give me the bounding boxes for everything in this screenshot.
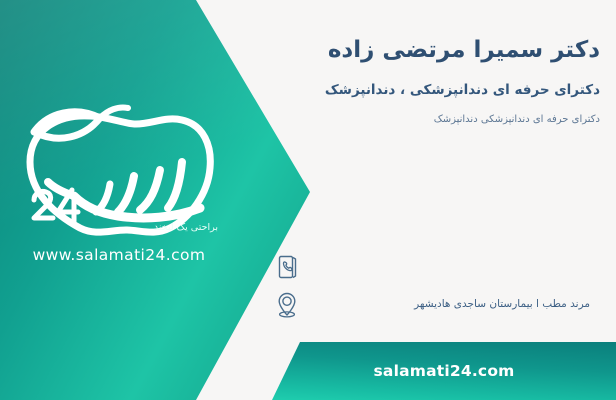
- logo-url: www.salamati24.com: [14, 246, 224, 264]
- business-card: براحتی یک لبخند www.salamati24.com دکتر …: [0, 0, 616, 400]
- brand-logo: براحتی یک لبخند www.salamati24.com: [14, 96, 224, 276]
- contact-list: مرند مطب ا بیمارستان ساجدی هادیشهر: [270, 248, 600, 324]
- doctor-specialty: دکترای حرفه ای دندانپزشکی ، دندانپزشک: [270, 81, 600, 100]
- location-pin-icon: [270, 287, 304, 323]
- footer-inner: salamati24.com: [272, 342, 616, 400]
- contact-row-phone[interactable]: [270, 248, 600, 286]
- logo-tagline: براحتی یک لبخند: [154, 222, 218, 233]
- doctor-info: دکتر سمیرا مرتضی زاده دکترای حرفه ای دند…: [270, 36, 600, 127]
- phone-book-icon: [270, 249, 304, 285]
- doctor-name: دکتر سمیرا مرتضی زاده: [270, 36, 600, 65]
- footer-bar: salamati24.com: [272, 342, 616, 400]
- address-value: مرند مطب ا بیمارستان ساجدی هادیشهر: [304, 297, 600, 312]
- contact-row-address[interactable]: مرند مطب ا بیمارستان ساجدی هادیشهر: [270, 286, 600, 324]
- doctor-degree: دکترای حرفه ای دندانپزشکی دندانپزشک: [270, 113, 600, 127]
- footer-url[interactable]: salamati24.com: [373, 362, 514, 380]
